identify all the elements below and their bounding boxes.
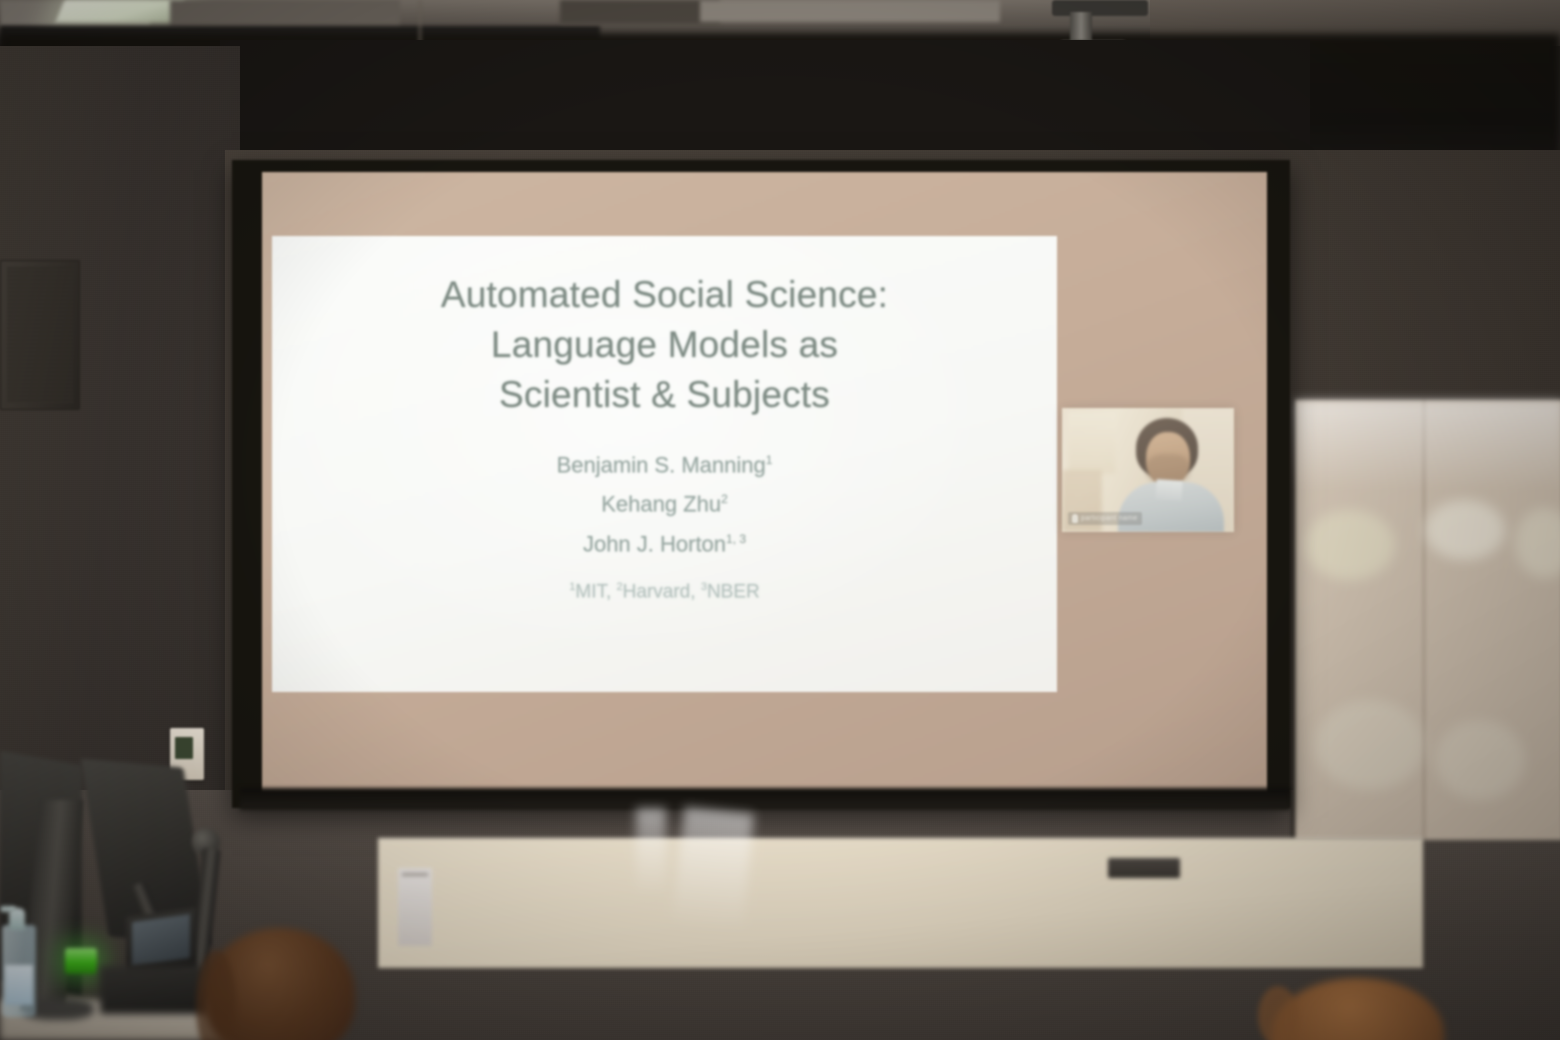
author-2: Kehang Zhu2: [272, 482, 1057, 521]
ceiling-light-panel: [56, 0, 185, 22]
whiteboard-smudge: [1305, 510, 1395, 580]
lower-whiteboard: [378, 838, 1423, 968]
slide-title: Automated Social Science: Language Model…: [272, 270, 1057, 420]
lecture-hall-photo: Automated Social Science: Language Model…: [0, 0, 1560, 1040]
ceiling-tile: [560, 0, 720, 24]
podium-equipment-box: [100, 966, 210, 1014]
slide-affiliations: 1MIT, 2Harvard, 3NBER: [272, 581, 1057, 603]
screen-bottom-shadow: [240, 788, 1290, 810]
right-whiteboard: [1292, 400, 1560, 840]
marker-tray: [1108, 858, 1180, 878]
video-call-participant-tile[interactable]: participant name: [1062, 408, 1234, 532]
slide-title-line-3: Scientist & Subjects: [272, 370, 1057, 420]
camera-mount-plate: [1052, 0, 1148, 16]
hand-sanitizer-bottle: [2, 925, 36, 1017]
laptop-screen: [132, 914, 190, 966]
slide-title-line-1: Automated Social Science:: [272, 270, 1057, 320]
wall-plate-panel: [175, 737, 193, 759]
ceiling-tile: [700, 0, 1000, 22]
author-1: Benjamin S. Manning1: [272, 443, 1057, 482]
presentation-slide: Automated Social Science: Language Model…: [272, 236, 1057, 692]
whiteboard-smudge: [1425, 500, 1505, 560]
sanitizer-nozzle: [0, 906, 16, 912]
whiteboard-paper-note: [398, 868, 432, 946]
whiteboard-smudge: [1435, 720, 1525, 800]
slide-author-list: Benjamin S. Manning1 Kehang Zhu2 John J.…: [272, 443, 1057, 561]
author-3: John J. Horton1, 3: [272, 522, 1057, 561]
wall-speaker: [0, 260, 80, 410]
whiteboard-smudge: [1515, 508, 1560, 578]
speaker-grille: [7, 267, 73, 403]
green-status-light: [65, 948, 97, 974]
whiteboard-smudge: [1315, 700, 1425, 790]
hair-wisp: [1258, 986, 1298, 1040]
slide-title-line-2: Language Models as: [272, 320, 1057, 370]
sanitizer-label: [5, 965, 33, 1005]
